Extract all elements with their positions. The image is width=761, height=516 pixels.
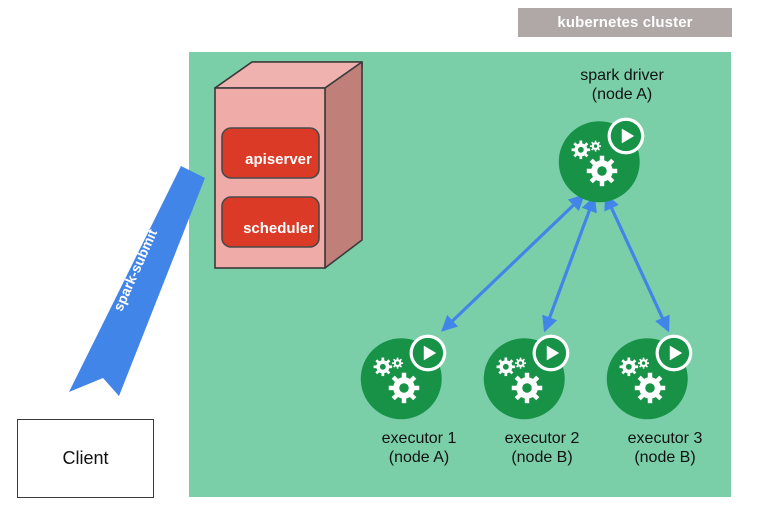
- spark-driver-name: spark driver: [522, 66, 722, 85]
- spark-driver-node-id: (node A): [522, 85, 722, 104]
- executor-3-label: executor 3 (node B): [580, 429, 750, 467]
- client-box[interactable]: Client: [17, 419, 154, 498]
- kubernetes-cluster-badge: kubernetes cluster: [518, 8, 732, 37]
- apiserver-label: apiserver: [222, 151, 335, 168]
- executor-3-name: executor 3: [580, 429, 750, 448]
- client-label: Client: [62, 448, 108, 469]
- executor-3-node-id: (node B): [580, 448, 750, 467]
- scheduler-label: scheduler: [222, 220, 335, 237]
- kubernetes-cluster-badge-label: kubernetes cluster: [557, 14, 692, 31]
- spark-driver-label: spark driver (node A): [522, 66, 722, 104]
